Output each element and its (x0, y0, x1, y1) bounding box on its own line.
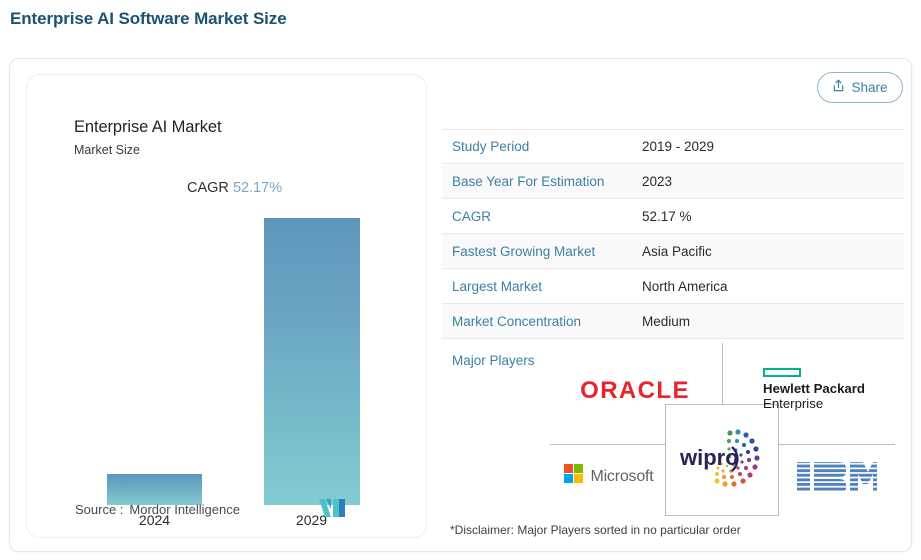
chart-panel: Enterprise AI Market Market Size CAGR 52… (26, 74, 427, 538)
chart-cagr-annotation: CAGR 52.17% (187, 180, 282, 196)
wipro-spiral-icon: wipro (672, 415, 772, 505)
table-row: Largest Market North America (442, 269, 904, 304)
microsoft-squares-icon (564, 464, 584, 489)
oracle-logo-text: ORACLE (580, 377, 690, 405)
chart-cagr-value: 52.17% (233, 180, 282, 196)
market-info-table: Study Period 2019 - 2029 Base Year For E… (442, 129, 904, 339)
table-row: CAGR 52.17 % (442, 199, 904, 234)
page-title: Enterprise AI Software Market Size (10, 9, 287, 29)
table-row: Study Period 2019 - 2029 (442, 129, 904, 164)
microsoft-logo: Microsoft (554, 449, 664, 504)
row-key: Fastest Growing Market (442, 244, 642, 259)
row-value: Medium (642, 314, 690, 329)
row-key: Largest Market (442, 279, 642, 294)
ibm-logo-icon (797, 460, 877, 494)
share-button-label: Share (851, 80, 887, 95)
players-disclaimer: *Disclaimer: Major Players sorted in no … (450, 523, 741, 537)
hpe-logo-line1: Hewlett Packard (763, 382, 865, 397)
row-key: Base Year For Estimation (442, 174, 642, 189)
row-value: 2023 (642, 174, 672, 189)
row-value: 52.17 % (642, 209, 692, 224)
microsoft-logo-text: Microsoft (590, 468, 653, 486)
row-key: CAGR (442, 209, 642, 224)
table-row: Market Concentration Medium (442, 304, 904, 339)
source-name: Mordor Intelligence (129, 502, 240, 517)
table-row: Fastest Growing Market Asia Pacific (442, 234, 904, 269)
share-button[interactable]: Share (817, 72, 903, 103)
chart-subtitle: Market Size (74, 143, 140, 157)
row-value: Asia Pacific (642, 244, 712, 259)
chart-source: Source : Mordor Intelligence (75, 498, 395, 521)
svg-text:wipro: wipro (679, 445, 739, 470)
major-players-section: Major Players ORACLE Hewlett Packard Ent… (442, 341, 904, 521)
logo-grid: ORACLE Hewlett Packard Enterprise (542, 341, 902, 516)
source-label: Source : (75, 502, 123, 517)
ibm-logo (782, 449, 892, 504)
market-size-card: Share Enterprise AI Market Market Size C… (9, 58, 912, 552)
row-key: Market Concentration (442, 314, 642, 329)
chart-title: Enterprise AI Market (74, 118, 221, 137)
bar-2029[interactable] (264, 218, 360, 505)
table-row: Base Year For Estimation 2023 (442, 164, 904, 199)
hpe-mark-icon (763, 368, 801, 377)
share-upload-icon (832, 79, 845, 96)
row-value: North America (642, 279, 728, 294)
chart-cagr-label: CAGR (187, 180, 229, 196)
major-players-title: Major Players (452, 353, 535, 368)
mordor-intelligence-logo (319, 498, 345, 521)
row-value: 2019 - 2029 (642, 139, 714, 154)
row-key: Study Period (442, 139, 642, 154)
wipro-logo: wipro (666, 405, 778, 515)
